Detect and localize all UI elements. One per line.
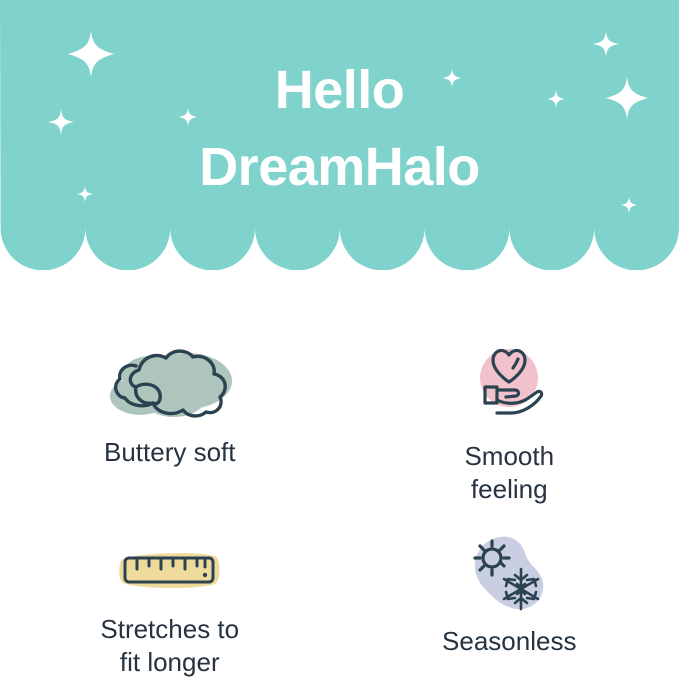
feature-grid: Buttery soft Smooth feeling [0, 282, 679, 676]
feature-label-stretches: Stretches to fit longer [100, 613, 239, 679]
cloud-icon [94, 344, 246, 422]
feature-label-buttery-soft: Buttery soft [104, 436, 236, 469]
feature-label-smooth-feeling: Smooth feeling [464, 440, 554, 507]
feature-item-seasonless: Seasonless [340, 507, 679, 679]
feature-item-buttery-soft: Buttery soft [0, 282, 340, 507]
feature-item-smooth-feeling: Smooth feeling [340, 282, 679, 507]
page-title: Hello DreamHalo [0, 52, 679, 205]
ruler-dot [203, 572, 207, 576]
heart-in-hand-icon [463, 334, 555, 422]
hero-banner: Hello DreamHalo [0, 0, 679, 270]
ruler-icon [115, 545, 225, 595]
feature-item-stretches: Stretches to fit longer [0, 507, 340, 679]
sun-snowflake-icon [459, 529, 559, 615]
feature-label-seasonless: Seasonless [442, 625, 576, 658]
